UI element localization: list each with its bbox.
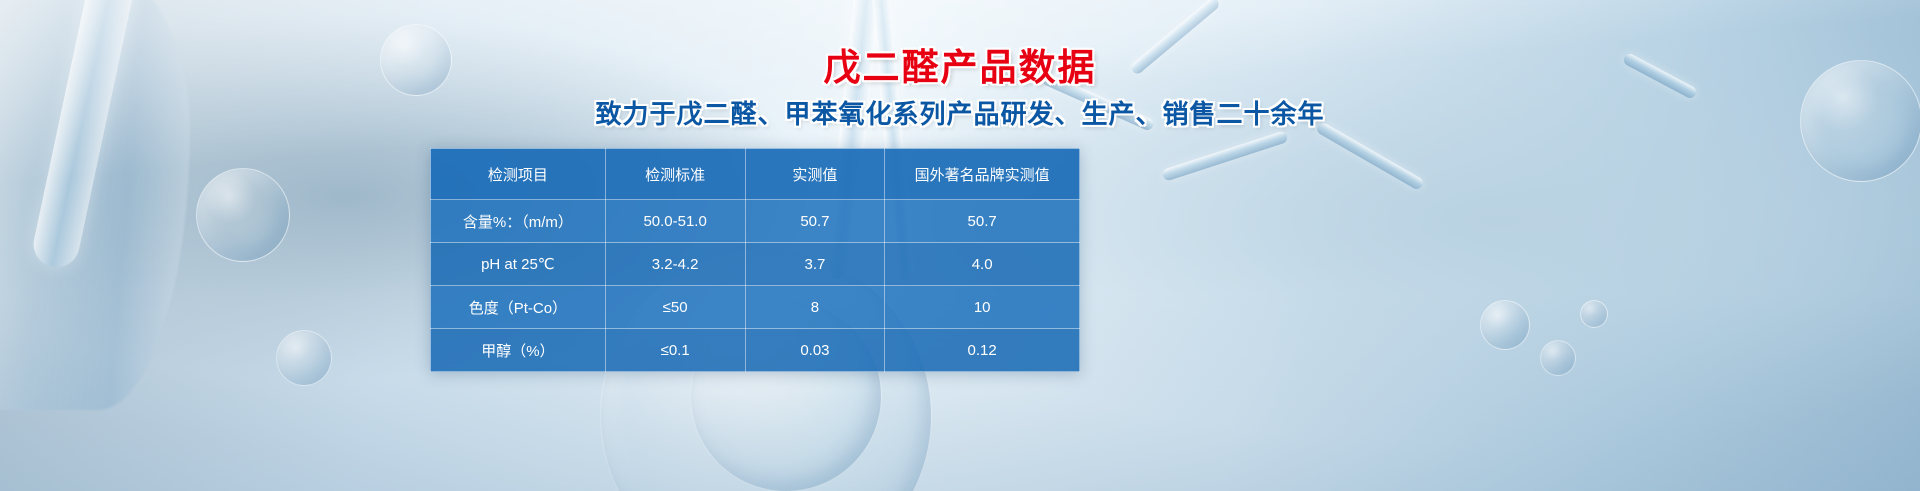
cell-standard: 3.2-4.2 — [605, 243, 745, 286]
cell-measured: 0.03 — [745, 329, 885, 372]
cell-measured: 8 — [745, 286, 885, 329]
column-header-item: 检测项目 — [431, 149, 606, 200]
product-data-banner: 戊二醛产品数据 致力于戊二醛、甲苯氧化系列产品研发、生产、销售二十余年 检测项目… — [0, 0, 1920, 491]
cell-foreign: 4.0 — [885, 243, 1080, 286]
cell-standard: ≤50 — [605, 286, 745, 329]
cell-item: pH at 25℃ — [431, 243, 606, 286]
cell-item: 含量%：（m/m） — [431, 200, 606, 243]
product-data-table-wrapper: 检测项目 检测标准 实测值 国外著名品牌实测值 含量%：（m/m） 50.0-5… — [430, 148, 1080, 372]
table-row: pH at 25℃ 3.2-4.2 3.7 4.0 — [431, 243, 1080, 286]
cell-foreign: 10 — [885, 286, 1080, 329]
column-header-measured: 实测值 — [745, 149, 885, 200]
table-row: 甲醇（%） ≤0.1 0.03 0.12 — [431, 329, 1080, 372]
column-header-standard: 检测标准 — [605, 149, 745, 200]
cell-item: 色度（Pt-Co） — [431, 286, 606, 329]
table-header-row: 检测项目 检测标准 实测值 国外著名品牌实测值 — [431, 149, 1080, 200]
product-data-table: 检测项目 检测标准 实测值 国外著名品牌实测值 含量%：（m/m） 50.0-5… — [430, 148, 1080, 372]
table-row: 色度（Pt-Co） ≤50 8 10 — [431, 286, 1080, 329]
table-header: 检测项目 检测标准 实测值 国外著名品牌实测值 — [431, 149, 1080, 200]
cell-measured: 50.7 — [745, 200, 885, 243]
column-header-foreign: 国外著名品牌实测值 — [885, 149, 1080, 200]
cell-standard: 50.0-51.0 — [605, 200, 745, 243]
table-row: 含量%：（m/m） 50.0-51.0 50.7 50.7 — [431, 200, 1080, 243]
table-body: 含量%：（m/m） 50.0-51.0 50.7 50.7 pH at 25℃ … — [431, 200, 1080, 372]
cell-foreign: 0.12 — [885, 329, 1080, 372]
cell-measured: 3.7 — [745, 243, 885, 286]
cell-item: 甲醇（%） — [431, 329, 606, 372]
cell-foreign: 50.7 — [885, 200, 1080, 243]
cell-standard: ≤0.1 — [605, 329, 745, 372]
